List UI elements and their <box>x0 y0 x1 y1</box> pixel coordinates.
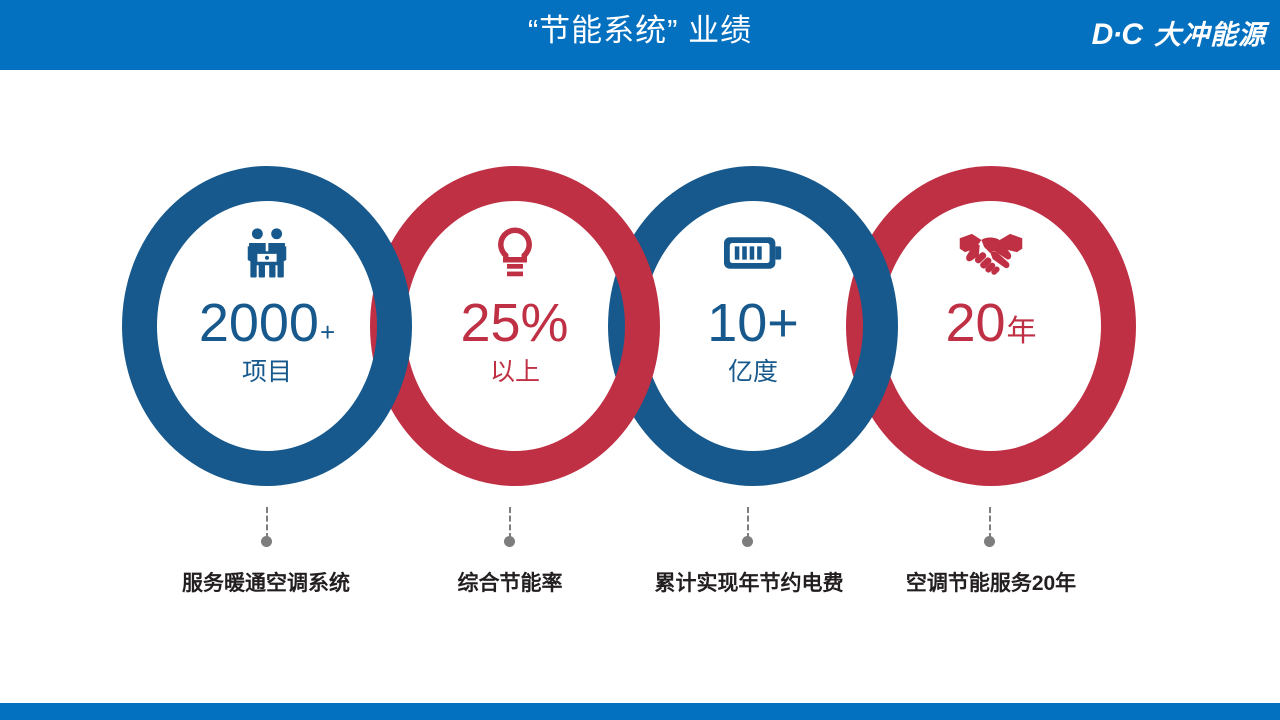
connector-line-1 <box>266 507 270 539</box>
caption-projects: 服务暖通空调系统 <box>182 567 350 597</box>
caption-years-of-service: 空调节能服务20年 <box>906 567 1076 597</box>
stat-ring-projects[interactable]: 2000+ 项目 <box>122 166 412 486</box>
stats-rings-stage: 2000+ 项目 25% 以上 <box>0 0 1280 720</box>
connector-dot-4 <box>984 536 995 547</box>
ring-stroke-red <box>370 166 660 486</box>
connector-line-2 <box>509 507 513 539</box>
connector-dot-1 <box>261 536 272 547</box>
connector-dot-3 <box>742 536 753 547</box>
ring-stroke-blue <box>122 166 412 486</box>
connector-dot-2 <box>504 536 515 547</box>
stat-ring-energy-saving-rate[interactable]: 25% 以上 <box>370 166 660 486</box>
footer-bar <box>0 703 1280 720</box>
caption-energy-saving-rate: 综合节能率 <box>458 567 563 597</box>
connector-line-3 <box>747 507 751 539</box>
caption-electricity-saved: 累计实现年节约电费 <box>655 567 844 597</box>
connector-line-4 <box>989 507 993 539</box>
